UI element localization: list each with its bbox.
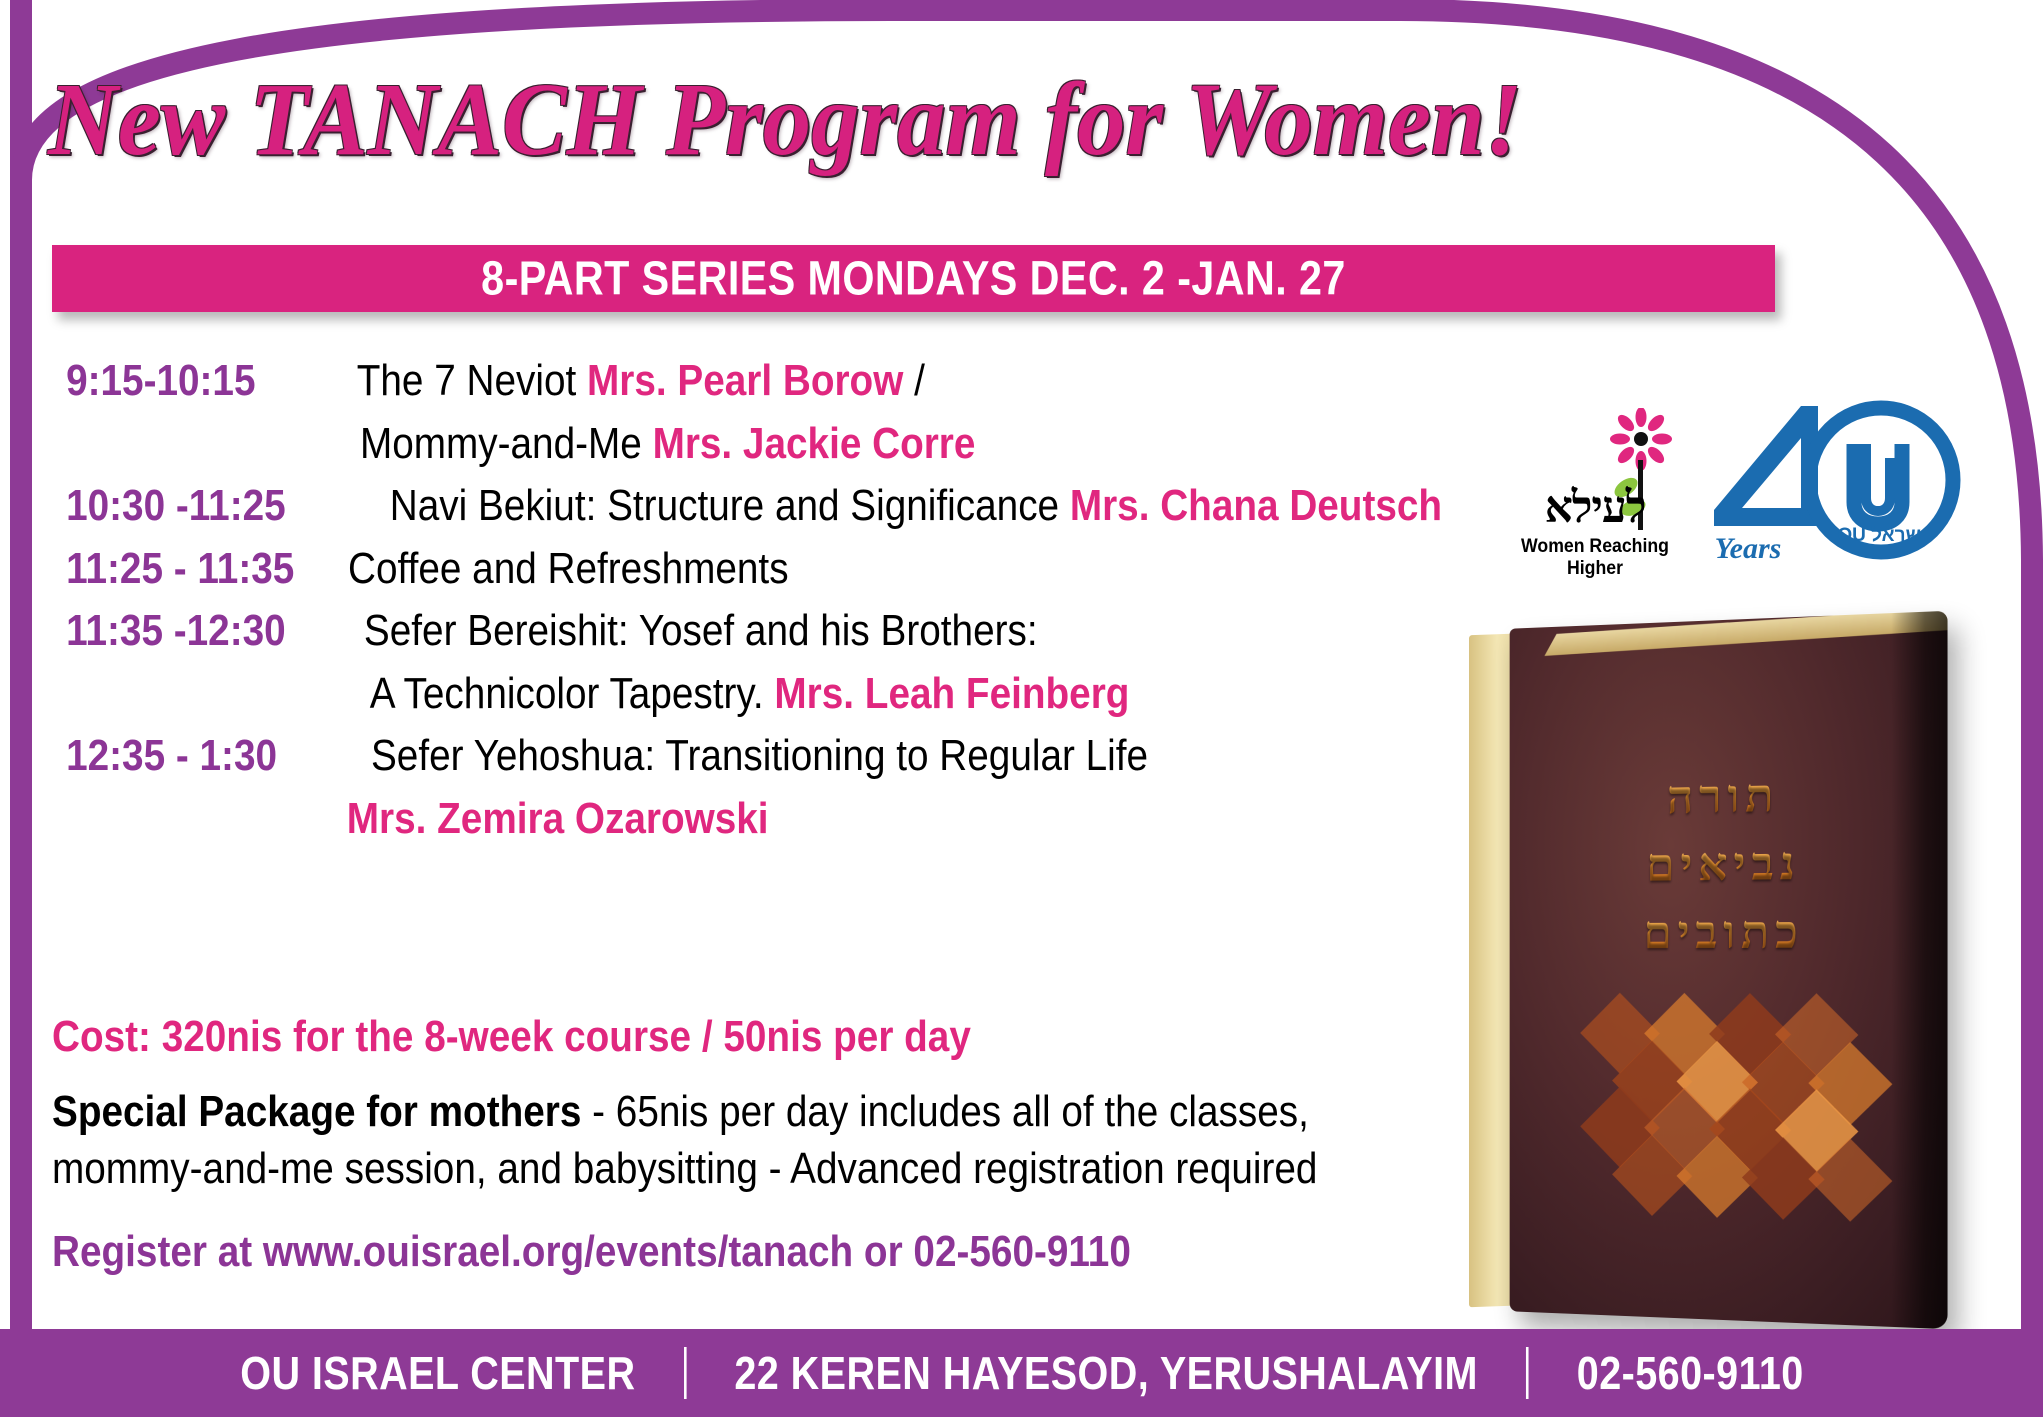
leela-logo: לעילא Women Reaching Higher [1500, 408, 1690, 568]
ou-years-label: Years [1715, 532, 1782, 565]
schedule-desc-text: Mommy-and-Me [360, 419, 653, 468]
schedule-list: 9:15-10:15 The 7 Neviot Mrs. Pearl Borow… [50, 352, 1470, 852]
schedule-row: Mommy-and-Me Mrs. Jackie Corre [50, 415, 1470, 474]
register-line[interactable]: Register at www.ouisrael.org/events/tana… [52, 1227, 1131, 1277]
series-banner: 8-PART SERIES MONDAYS DEC. 2 -JAN. 27 [52, 245, 1775, 312]
schedule-desc-text: The 7 Neviot [357, 356, 587, 405]
schedule-row: 10:30 -11:25 Navi Bekiut: Structure and … [50, 477, 1470, 536]
schedule-desc: Mrs. Zemira Ozarowski [347, 790, 769, 849]
page-title: New TANACH Program for Women! [48, 60, 1522, 179]
book-diamond-pattern [1592, 1004, 1881, 1301]
footer-separator [1526, 1347, 1529, 1399]
special-package-line2: mommy-and-me session, and babysitting - … [52, 1140, 1372, 1197]
special-package-detail: - 65nis per day includes all of the clas… [581, 1087, 1308, 1136]
schedule-row: 11:35 -12:30 Sefer Bereishit: Yosef and … [50, 602, 1470, 661]
schedule-desc: Coffee and Refreshments [348, 540, 789, 599]
schedule-desc-text: Coffee and Refreshments [348, 544, 789, 593]
footer-address: 22 KEREN HAYESOD, YERUSHALAYIM [734, 1346, 1478, 1400]
book-spine-shadow [1891, 611, 1947, 1329]
footer-org: OU ISRAEL CENTER [240, 1346, 635, 1400]
footer-separator [683, 1347, 686, 1399]
schedule-desc-text: Navi Bekiut: Structure and Significance [390, 481, 1070, 530]
book-title-torah: תורה [1510, 765, 1948, 827]
schedule-row: 11:25 - 11:35 Coffee and Refreshments [50, 540, 1470, 599]
book-title-ketuvim: כתובים [1510, 904, 1948, 959]
footer-content: OU ISRAEL CENTER 22 KEREN HAYESOD, YERUS… [240, 1346, 1803, 1400]
footer-phone: 02-560-9110 [1576, 1346, 1803, 1400]
schedule-desc: Navi Bekiut: Structure and Significance … [390, 477, 1442, 536]
special-package-block: Special Package for mothers - 65nis per … [52, 1083, 1372, 1197]
schedule-time: 11:25 - 11:35 [66, 540, 302, 599]
schedule-desc: Sefer Bereishit: Yosef and his Brothers: [364, 602, 1038, 661]
schedule-speaker: Mrs. Chana Deutsch [1070, 481, 1442, 530]
schedule-desc: A Technicolor Tapestry. Mrs. Leah Feinbe… [370, 665, 1130, 724]
special-package-label: Special Package for mothers [52, 1087, 581, 1136]
frame-left-bar [10, 0, 32, 1327]
footer-bar: OU ISRAEL CENTER 22 KEREN HAYESOD, YERUS… [0, 1329, 2043, 1417]
book-top-edge [1544, 611, 1947, 656]
cost-line: Cost: 320nis for the 8-week course / 50n… [52, 1012, 971, 1062]
schedule-desc-text: Sefer Yehoshua: Transitioning to Regular… [371, 731, 1148, 780]
schedule-speaker: Mrs. Leah Feinberg [774, 669, 1129, 718]
schedule-row: 9:15-10:15 The 7 Neviot Mrs. Pearl Borow… [50, 352, 1470, 411]
schedule-desc: Mommy-and-Me Mrs. Jackie Corre [360, 415, 975, 474]
ou-40-years-logo: OU ישראל Years [1706, 398, 1971, 573]
tanach-book-image: תורה נביאים כתובים [1455, 620, 1975, 1330]
leela-hebrew-name: לעילא [1500, 482, 1690, 533]
schedule-desc-text: Sefer Bereishit: Yosef and his Brothers: [364, 606, 1038, 655]
schedule-time: 12:35 - 1:30 [66, 727, 302, 786]
book-title-neviim: נביאים [1510, 835, 1948, 893]
schedule-desc-tail: / [903, 356, 925, 405]
schedule-speaker: Mrs. Zemira Ozarowski [347, 794, 769, 843]
series-banner-text: 8-PART SERIES MONDAYS DEC. 2 -JAN. 27 [173, 251, 1655, 306]
schedule-desc: Sefer Yehoshua: Transitioning to Regular… [371, 727, 1148, 786]
schedule-speaker: Mrs. Jackie Corre [653, 419, 976, 468]
schedule-row: A Technicolor Tapestry. Mrs. Leah Feinbe… [50, 665, 1470, 724]
schedule-desc: The 7 Neviot Mrs. Pearl Borow / [357, 352, 925, 411]
flyer-root: New TANACH Program for Women! 8-PART SER… [0, 0, 2043, 1417]
schedule-speaker: Mrs. Pearl Borow [587, 356, 903, 405]
schedule-time: 10:30 -11:25 [66, 477, 302, 536]
schedule-row: Mrs. Zemira Ozarowski [50, 790, 1470, 849]
schedule-desc-text: A Technicolor Tapestry. [370, 669, 775, 718]
leela-tagline: Women Reaching Higher [1507, 536, 1684, 580]
schedule-row: 12:35 - 1:30 Sefer Yehoshua: Transitioni… [50, 727, 1470, 786]
book-cover: תורה נביאים כתובים [1510, 611, 1948, 1329]
ou-hebrew-label: OU ישראל [1837, 525, 1926, 546]
schedule-time: 11:35 -12:30 [66, 602, 302, 661]
schedule-time: 9:15-10:15 [66, 352, 302, 411]
